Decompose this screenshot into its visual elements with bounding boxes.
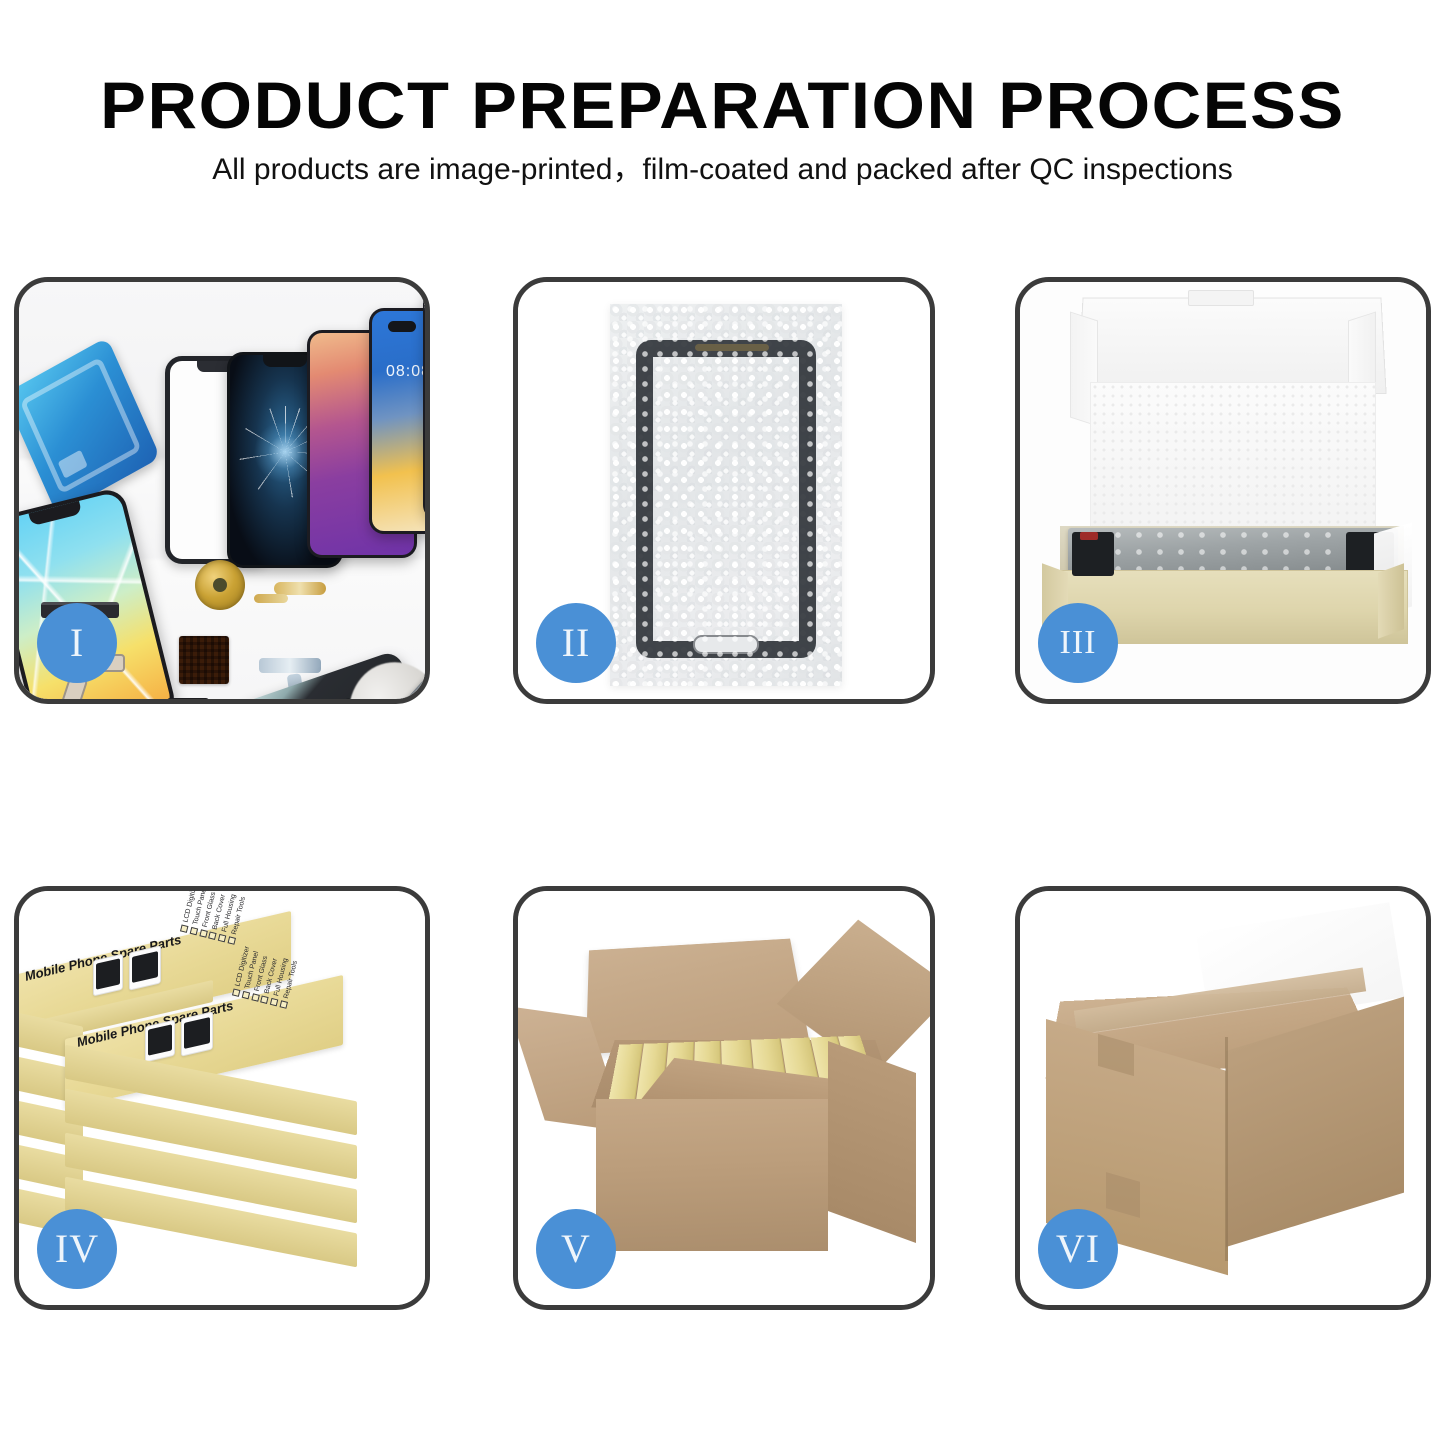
step-panel-6: VI (1015, 886, 1431, 1310)
box-screen-image (181, 1011, 213, 1056)
page-subtitle: All products are image-printed，film-coat… (0, 152, 1445, 188)
step-panel-1: 08:08 I (14, 277, 430, 704)
product-preparation-infographic: PRODUCT PREPARATION PROCESS All products… (0, 0, 1445, 1445)
box-screen-image (129, 945, 161, 990)
phone-teal-waves (423, 286, 425, 520)
connector-flex-part (259, 658, 321, 673)
phone-blue-display: 08:08 (369, 308, 425, 534)
step-badge-5: V (536, 1209, 616, 1289)
wireless-charging-coil-part (195, 560, 245, 610)
step-panel-2: II (513, 277, 935, 704)
box-lid-open (1077, 298, 1386, 395)
step-badge-4: IV (37, 1209, 117, 1289)
box-screen-image (145, 1020, 175, 1063)
foam-liner (1090, 382, 1376, 534)
wrapped-phone-screen (636, 340, 816, 658)
step-badge-6: VI (1038, 1209, 1118, 1289)
carton-flap-back (586, 939, 809, 1055)
lockscreen-clock: 08:08 (386, 363, 425, 381)
flex-cable-part (274, 582, 326, 595)
header: PRODUCT PREPARATION PROCESS All products… (0, 0, 1445, 230)
phone-notch (263, 355, 307, 367)
page-title: PRODUCT PREPARATION PROCESS (0, 72, 1445, 138)
punch-hole-camera (388, 321, 416, 332)
box-corner-right (1378, 563, 1404, 638)
step-badge-2: II (536, 603, 616, 683)
red-marker-sticker (1080, 532, 1098, 540)
carton-front-wall (596, 1099, 828, 1251)
step-panel-5: V (513, 886, 935, 1310)
step-badge-3: III (1038, 603, 1118, 683)
vibration-motor-part (167, 698, 209, 699)
box-screen-image (93, 954, 123, 997)
step-badge-1: I (37, 603, 117, 683)
carton-corner-seam (1225, 1037, 1228, 1261)
ic-chip-part (179, 636, 229, 684)
phone-display: 08:08 (372, 311, 425, 531)
bubble-wrap-sheet (610, 304, 842, 686)
step-panel-4: Mobile Phone Spare Parts LCD Digitizer T… (14, 886, 430, 1310)
carton-side-wall (828, 1041, 916, 1243)
box-lid-tab (1188, 290, 1254, 306)
step-panel-3: III (1015, 277, 1431, 704)
